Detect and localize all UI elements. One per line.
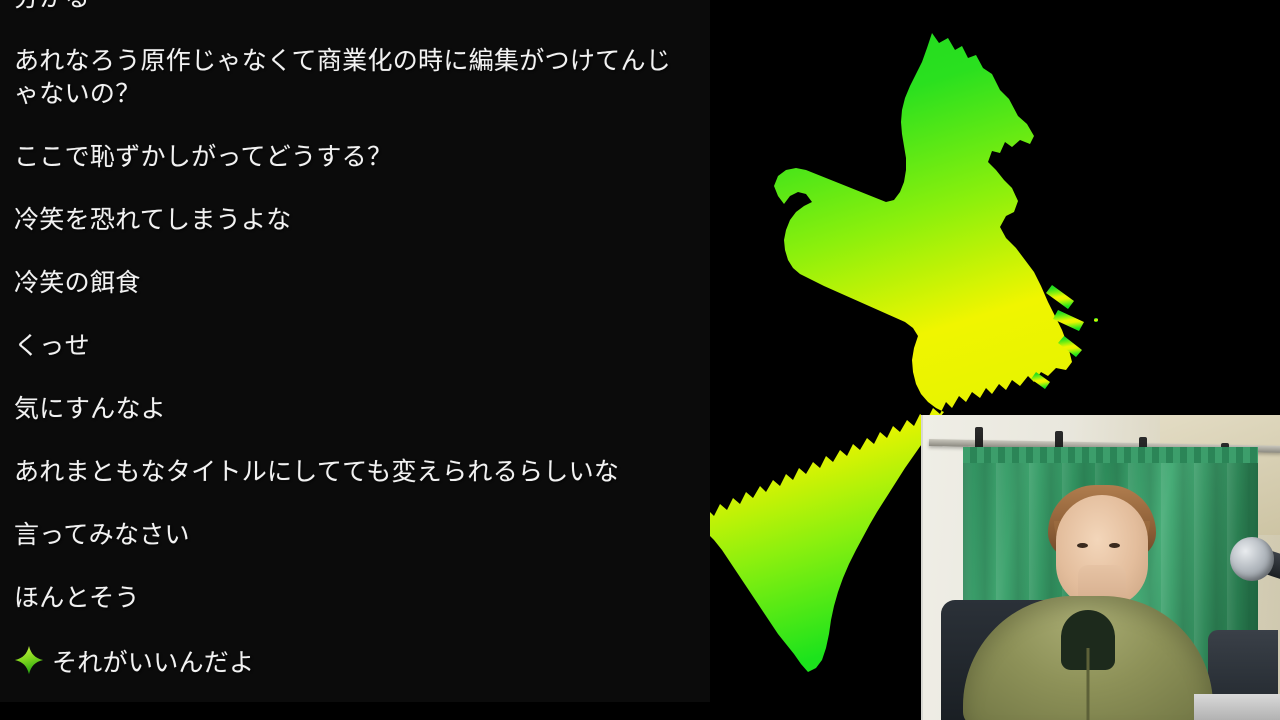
microphone-icon xyxy=(1230,537,1274,581)
chat-message-list[interactable]: 分かるあれなろう原作じゃなくて商業化の時に編集がつけてんじゃないの？ここで恥ずか… xyxy=(0,0,710,702)
chat-message-text: それがいいんだよ xyxy=(52,649,254,677)
green-sparkle-icon xyxy=(14,645,44,675)
chat-message: くっせ xyxy=(14,330,696,363)
chat-message-text: ここで恥ずかしがってどうする？ xyxy=(14,143,392,171)
chat-message-text: 分かる xyxy=(14,0,90,12)
chat-message: 言ってみなさい xyxy=(14,519,696,552)
chat-message: 冷笑の餌食 xyxy=(14,267,696,300)
chat-message-text: 冷笑を恐れてしまうよな xyxy=(14,206,292,234)
stream-screen: 分かるあれなろう原作じゃなくて商業化の時に編集がつけてんじゃないの？ここで恥ずか… xyxy=(0,0,1280,720)
desk-edge xyxy=(1194,694,1280,720)
curtain-pleats xyxy=(963,447,1258,463)
chat-message-text: 冷笑の餌食 xyxy=(14,269,141,297)
chat-message: ほんとそう xyxy=(14,582,696,615)
chat-message: 気にすんなよ xyxy=(14,393,696,426)
chat-message-text: 言ってみなさい xyxy=(14,521,190,549)
green-sparkle-icon xyxy=(14,645,44,684)
chat-message: あれなろう原作じゃなくて商業化の時に編集がつけてんじゃないの？ xyxy=(14,45,696,111)
eye-left xyxy=(1077,543,1088,548)
chat-panel[interactable]: 分かるあれなろう原作じゃなくて商業化の時に編集がつけてんじゃないの？ここで恥ずか… xyxy=(0,0,710,702)
chat-message: ここで恥ずかしがってどうする？ xyxy=(14,141,696,174)
chat-message-text: 気にすんなよ xyxy=(14,395,166,423)
chat-message-text: ほんとそう xyxy=(14,584,140,612)
jacket-zipper xyxy=(1087,648,1090,720)
chat-message: 分かる xyxy=(14,0,696,15)
chat-message: 冷笑を恐れてしまうよな xyxy=(14,204,696,237)
chat-message: それがいいんだよ xyxy=(14,645,696,684)
chat-message-text: あれまともなタイトルにしてても変えられるらしいな xyxy=(14,458,619,486)
chat-message: あれまともなタイトルにしてても変えられるらしいな xyxy=(14,456,696,489)
chat-message-text: あれなろう原作じゃなくて商業化の時に編集がつけてんじゃないの？ xyxy=(14,47,671,108)
webcam-overlay[interactable] xyxy=(921,415,1280,720)
chat-message-text: くっせ xyxy=(14,332,90,360)
eye-right xyxy=(1109,543,1120,548)
